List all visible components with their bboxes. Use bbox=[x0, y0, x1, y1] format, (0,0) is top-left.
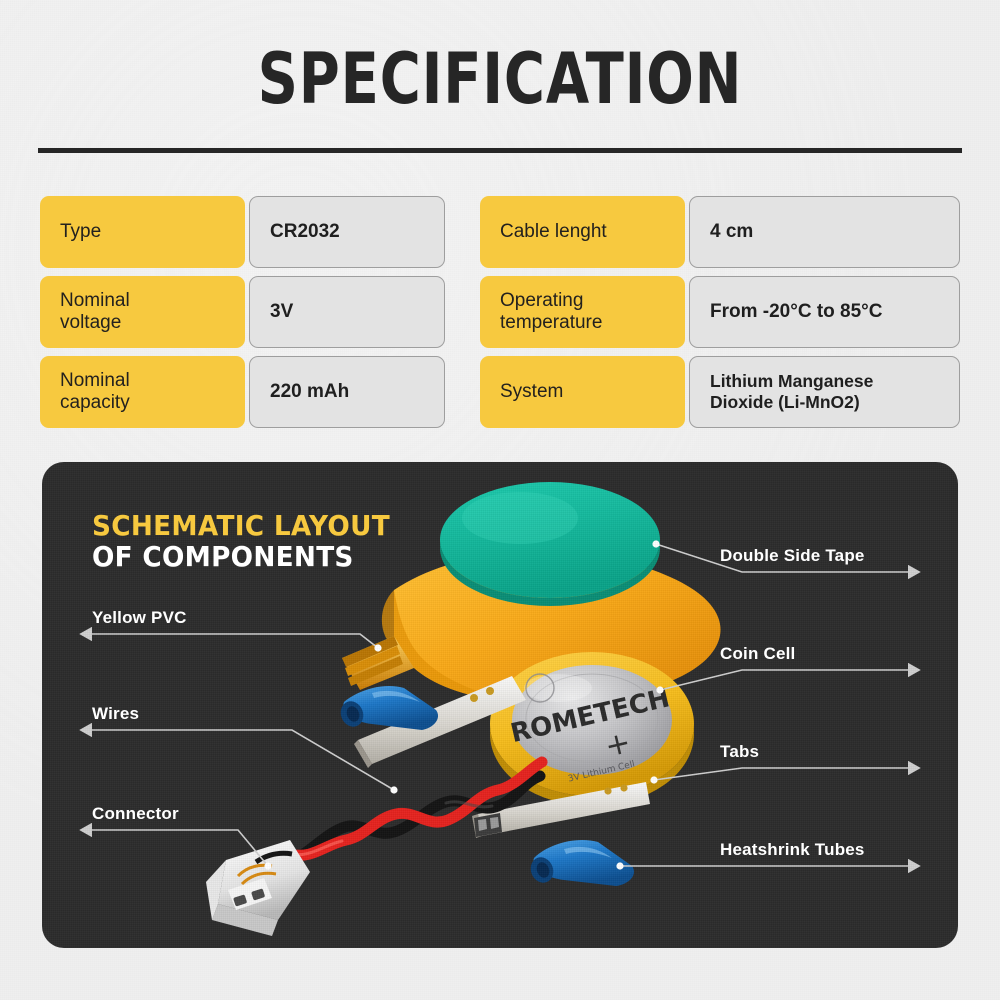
spec-label: System bbox=[480, 356, 685, 428]
callout-label-connector: Connector bbox=[92, 804, 179, 824]
spec-value: Lithium Manganese Dioxide (Li-MnO2) bbox=[689, 356, 960, 428]
spec-value: 220 mAh bbox=[249, 356, 445, 428]
spec-label: Operating temperature bbox=[480, 276, 685, 348]
spec-label: Type bbox=[40, 196, 245, 268]
page-header: SPECIFICATION bbox=[0, 44, 1000, 114]
header-divider bbox=[38, 148, 962, 153]
spec-label: Cable lenght bbox=[480, 196, 685, 268]
spec-value: From -20°C to 85°C bbox=[689, 276, 960, 348]
callout-label-tabs: Tabs bbox=[720, 742, 759, 762]
schematic-heading: SCHEMATIC LAYOUT OF COMPONENTS bbox=[92, 510, 409, 573]
spec-label: Nominal voltage bbox=[40, 276, 245, 348]
leader-line-wires bbox=[92, 730, 394, 790]
leader-line-yellow-pvc bbox=[92, 634, 378, 648]
spec-label: Nominal capacity bbox=[40, 356, 245, 428]
callout-label-double-side-tape: Double Side Tape bbox=[720, 546, 865, 566]
leader-line-coin-cell bbox=[660, 670, 908, 690]
callout-label-yellow-pvc: Yellow PVC bbox=[92, 608, 187, 628]
column-gap bbox=[445, 276, 480, 348]
column-gap bbox=[445, 356, 480, 428]
schematic-heading-line1: SCHEMATIC LAYOUT bbox=[92, 510, 390, 541]
spec-value: 3V bbox=[249, 276, 445, 348]
callout-label-wires: Wires bbox=[92, 704, 139, 724]
specification-table: Type CR2032 Cable lenght 4 cm Nominal vo… bbox=[40, 196, 960, 428]
schematic-heading-line2: OF COMPONENTS bbox=[92, 541, 390, 572]
callout-label-coin-cell: Coin Cell bbox=[720, 644, 795, 664]
double-side-tape-artwork bbox=[440, 482, 660, 606]
spec-value: 4 cm bbox=[689, 196, 960, 268]
schematic-layout-panel: ROMETECH + 3V Lithium Cell bbox=[42, 462, 958, 948]
callout-label-heatshrink-tubes: Heatshrink Tubes bbox=[720, 840, 865, 860]
spec-value: CR2032 bbox=[249, 196, 445, 268]
leader-line-tabs bbox=[654, 768, 908, 780]
page-title: SPECIFICATION bbox=[100, 44, 900, 114]
column-gap bbox=[445, 196, 480, 268]
